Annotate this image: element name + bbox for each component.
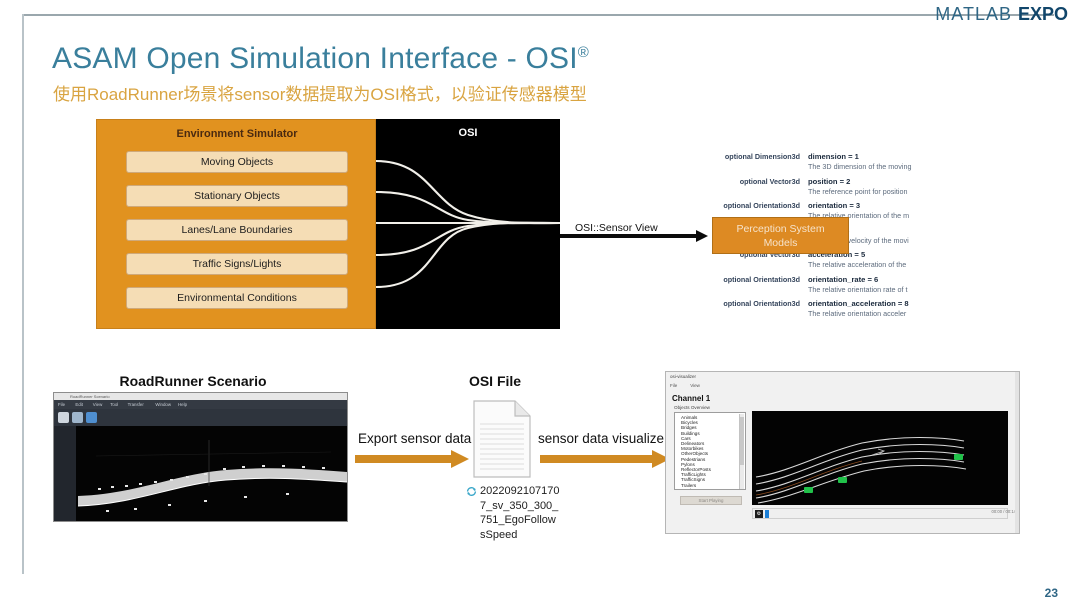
caption-roadrunner-scenario: RoadRunner Scenario (88, 373, 298, 389)
proto-row: optional Orientation3dorientation_rate =… (688, 275, 953, 300)
roadrunner-menu-item[interactable]: Help (178, 402, 187, 407)
logo-matlab-text: MATLAB (935, 4, 1012, 25)
proto-field-description: The 3D dimension of the moving (808, 162, 911, 171)
visualizer-list-item[interactable]: Trucks (675, 488, 745, 490)
roadrunner-menu-item[interactable]: Window (155, 402, 171, 407)
visualizer-window-title: osi-visualizer (670, 374, 696, 379)
page-title: ASAM Open Simulation Interface - OSI® (52, 42, 589, 76)
visualizer-3d-canvas[interactable] (752, 411, 1008, 505)
perception-box-line-1: Perception System (713, 222, 848, 236)
visualizer-time-label: 00:00 / 00:14 (992, 509, 1016, 514)
osi-architecture-diagram: Environment Simulator Moving ObjectsStat… (96, 119, 560, 329)
proto-row: optional Vector3dposition = 2The referen… (688, 177, 953, 202)
sensor-data-visualizer-label: sensor data visualizer (538, 431, 669, 446)
header-divider-line (22, 14, 1054, 16)
proto-row: optional Dimension3ddimension = 1The 3D … (688, 152, 953, 177)
proto-field-name: orientation_rate = 6 (808, 275, 878, 284)
visualize-arrow-icon (540, 450, 670, 468)
env-item-environmental-conditions: Environmental Conditions (126, 287, 348, 309)
perception-box-line-2: Models (713, 236, 848, 250)
environment-simulator-panel: Environment Simulator Moving ObjectsStat… (96, 119, 376, 329)
proto-field-name: dimension = 1 (808, 152, 859, 161)
slide: MATLAB EXPO ASAM Open Simulation Interfa… (0, 0, 1080, 608)
proto-field-type: optional Dimension3d (688, 152, 800, 161)
roadrunner-3d-canvas[interactable] (76, 426, 348, 522)
visualizer-menu-item[interactable]: File (670, 383, 677, 388)
proto-field-description: The relative orientation rate of t (808, 285, 907, 294)
env-item-moving-objects: Moving Objects (126, 151, 348, 173)
proto-field-description: The relative orientation acceler (808, 309, 906, 318)
roadrunner-window-title: RoadRunner Scenario (70, 394, 110, 399)
sync-status-icon (466, 486, 477, 497)
visualizer-object-list[interactable]: AnimalsBicyclesBridgesBuildingsCarsDelin… (674, 412, 746, 490)
roadrunner-menu-item[interactable]: Edit (75, 402, 83, 407)
proto-row: optional Orientation3dorientation_accele… (688, 299, 953, 324)
roadrunner-menu-item[interactable]: Tool (110, 402, 118, 407)
visualizer-play-button[interactable]: Start Playing (680, 496, 742, 505)
page-title-text: ASAM Open Simulation Interface - OSI (52, 42, 578, 75)
roadrunner-tool-scene-icon[interactable] (86, 412, 97, 423)
env-item-traffic-signs-lights: Traffic Signs/Lights (126, 253, 348, 275)
export-arrow-icon (355, 450, 469, 468)
proto-field-name: orientation_acceleration = 8 (808, 299, 909, 308)
roadrunner-menu-item[interactable]: Transfer (128, 402, 144, 407)
visualizer-menu-item[interactable]: View (690, 383, 700, 388)
osi-visualizer-window[interactable]: osi-visualizer Channel 1 Objects Overvie… (665, 371, 1020, 534)
export-sensor-data-label: Export sensor data (358, 431, 471, 446)
proto-field-description: The relative acceleration of the (808, 260, 906, 269)
osi-file-name: 20220921071707_sv_350_300_751_EgoFollows… (480, 484, 560, 542)
page-number: 23 (1045, 586, 1058, 600)
proto-field-type: optional Orientation3d (688, 201, 800, 210)
roadrunner-tool-select-icon[interactable] (58, 412, 69, 423)
roadrunner-menu-item[interactable]: File (58, 402, 65, 407)
sensor-view-arrow-icon (560, 229, 708, 243)
caption-osi-file: OSI File (430, 373, 560, 389)
visualizer-control-bar[interactable] (752, 508, 1008, 519)
osi-black-panel: OSI (376, 119, 560, 329)
proto-field-description: The reference point for position (808, 187, 908, 196)
matlab-expo-logo: MATLAB EXPO (935, 4, 1068, 25)
roadrunner-left-strip (54, 426, 76, 522)
perception-system-models-box: Perception System Models (712, 217, 849, 254)
gear-icon[interactable]: ⚙ (755, 510, 763, 518)
registered-trademark-icon: ® (578, 44, 589, 61)
proto-field-type: optional Orientation3d (688, 275, 800, 284)
roadrunner-toolbar[interactable] (54, 409, 347, 426)
proto-field-type: optional Vector3d (688, 177, 800, 186)
roadrunner-road-scene-icon (76, 426, 348, 522)
visualizer-channel-label: Channel 1 (672, 394, 710, 403)
roadrunner-tool-pan-icon[interactable] (72, 412, 83, 423)
page-subtitle: 使用RoadRunner场景将sensor数据提取为OSI格式，以验证传感器模型 (53, 80, 587, 105)
frame-left-border (22, 14, 24, 574)
env-item-stationary-objects: Stationary Objects (126, 185, 348, 207)
roadrunner-menu-item[interactable]: View (93, 402, 102, 407)
logo-expo-text: EXPO (1018, 4, 1068, 25)
visualizer-list-scrollbar[interactable] (739, 414, 744, 490)
env-item-lanes-lane-boundaries: Lanes/Lane Boundaries (126, 219, 348, 241)
osi-file-document-icon (473, 400, 531, 478)
visualizer-objects-overview-label: Objects Overview (674, 405, 710, 410)
roadrunner-titlebar: RoadRunner Scenario (54, 393, 347, 400)
proto-field-type: optional Orientation3d (688, 299, 800, 308)
osi-flow-lines-icon (376, 119, 560, 329)
proto-field-name: position = 2 (808, 177, 850, 186)
visualizer-seek-handle[interactable] (765, 510, 769, 518)
environment-simulator-title: Environment Simulator (97, 128, 377, 140)
roadrunner-window[interactable]: RoadRunner Scenario (53, 392, 348, 522)
visualizer-right-edge (1015, 372, 1020, 534)
visualizer-lane-scene-icon (752, 411, 1008, 505)
proto-field-name: orientation = 3 (808, 201, 860, 210)
visualizer-list-scroll-thumb[interactable] (740, 417, 744, 465)
